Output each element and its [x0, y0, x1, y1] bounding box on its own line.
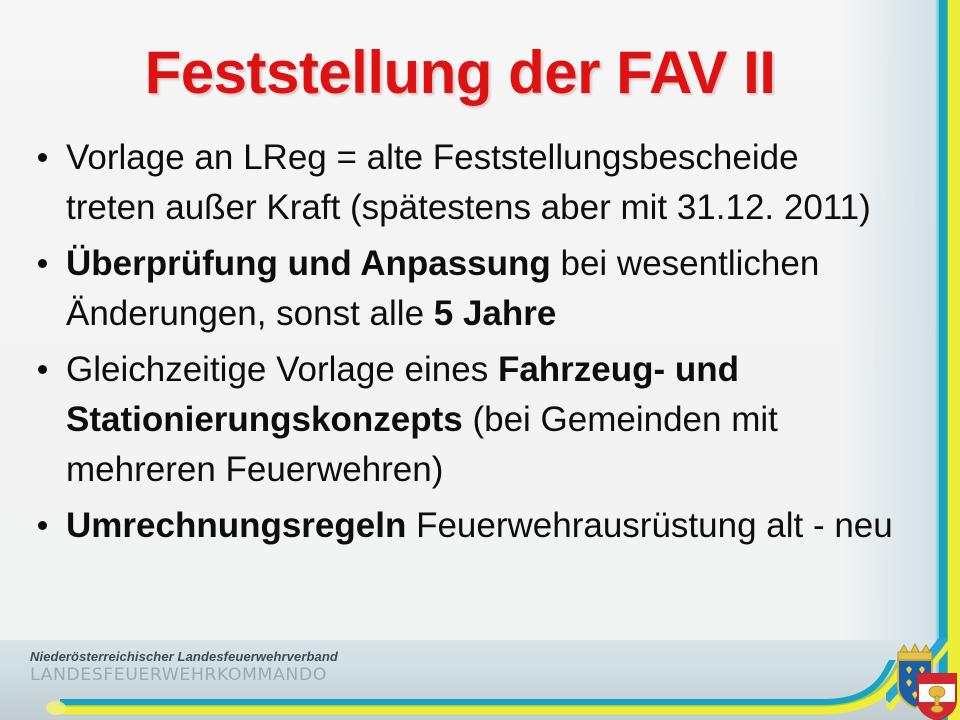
list-item-text: Umrechnungsregeln Feuerwehrausrüstung al…	[66, 506, 893, 545]
edge-stripe-yellow	[948, 0, 960, 720]
list-item-text: Überprüfung und Anpassung bei wesentlich…	[66, 244, 819, 333]
plain-text: Gleichzeitige Vorlage eines	[66, 350, 498, 389]
crown-icon	[898, 644, 932, 660]
list-item: Umrechnungsregeln Feuerwehrausrüstung al…	[28, 501, 894, 551]
footer-department-name: LANDESFEUERWEHRKOMMANDO	[30, 667, 601, 685]
emphasis-text: Umrechnungsregeln	[66, 506, 406, 545]
plain-text: Feuerwehrausrüstung alt - neu	[406, 506, 892, 545]
bullet-list: Vorlage an LReg = alte Feststellungsbesc…	[28, 133, 894, 557]
organization-logo	[886, 638, 960, 720]
list-item-text: Vorlage an LReg = alte Feststellungsbesc…	[66, 138, 871, 227]
list-item: Vorlage an LReg = alte Feststellungsbesc…	[28, 133, 894, 233]
emphasis-text: Überprüfung und Anpassung	[66, 244, 551, 283]
footer-text-block: Niederösterreichischer Landesfeuerwehrve…	[30, 650, 590, 684]
coat-of-arms-icon	[886, 638, 960, 720]
plain-text: Vorlage an LReg = alte Feststellungsbesc…	[66, 138, 871, 227]
list-item: Überprüfung und Anpassung bei wesentlich…	[28, 239, 894, 339]
bullet-dot-icon	[38, 259, 47, 268]
shield-fire-service	[918, 674, 956, 720]
footer-organization-name: Niederösterreichischer Landesfeuerwehrve…	[30, 650, 590, 664]
list-item: Gleichzeitige Vorlage eines Fahrzeug- un…	[28, 345, 894, 495]
bullet-dot-icon	[38, 521, 47, 530]
list-item-text: Gleichzeitige Vorlage eines Fahrzeug- un…	[66, 350, 778, 489]
slide-canvas: Feststellung der FAV II Vorlage an LReg …	[0, 0, 960, 720]
bullet-dot-icon	[38, 153, 47, 162]
emphasis-text: 5 Jahre	[434, 294, 557, 333]
bullet-dot-icon	[38, 365, 47, 374]
slide-title: Feststellung der FAV II	[0, 38, 920, 108]
